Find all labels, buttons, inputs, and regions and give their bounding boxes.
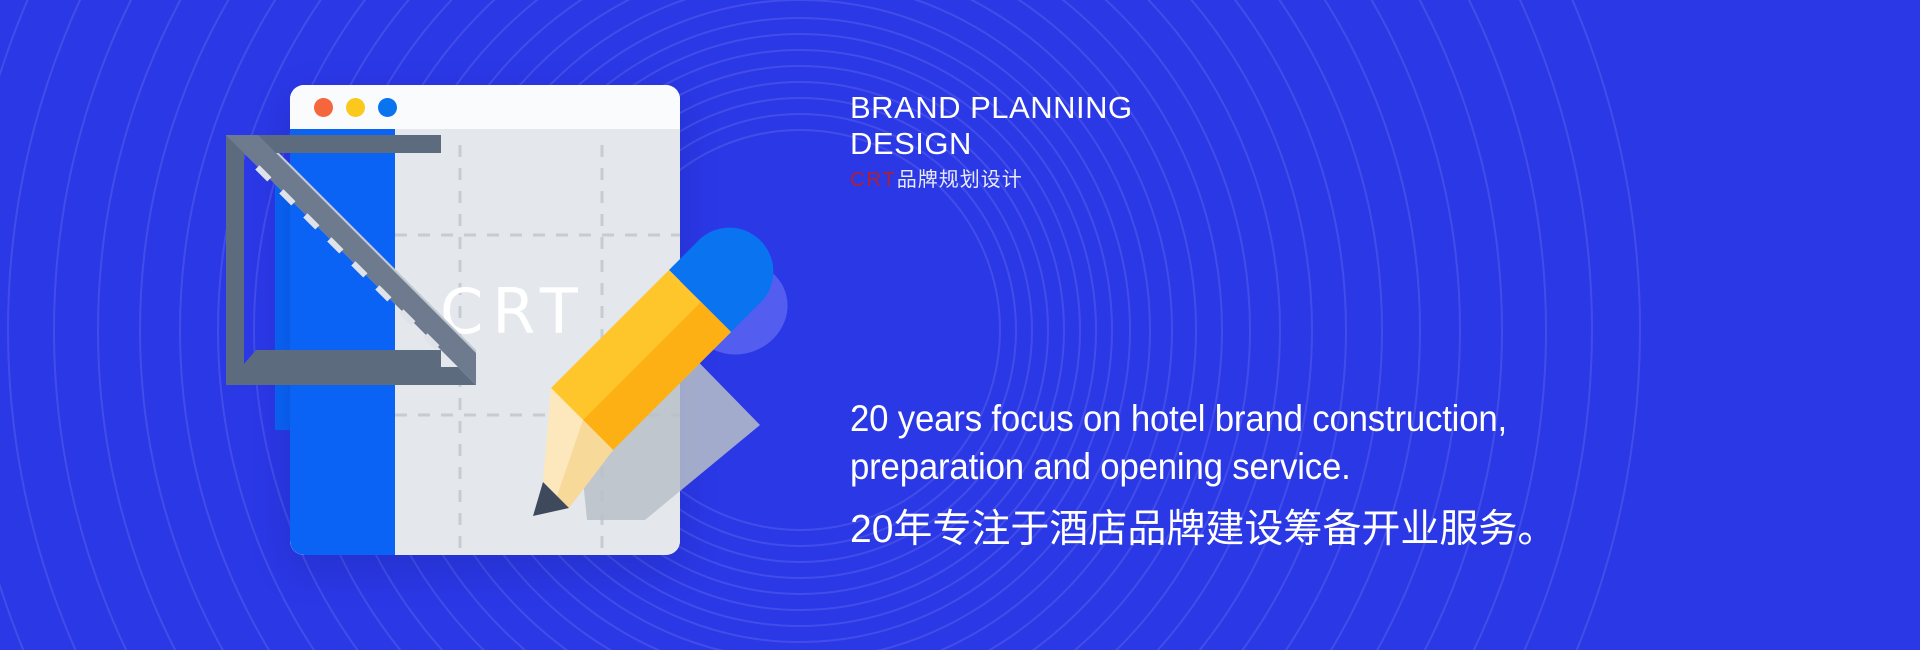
tagline-en-line-2: preparation and opening service.	[850, 443, 1696, 491]
copy-block: BRAND PLANNING DESIGN CRT品牌规划设计 20 years…	[850, 0, 1850, 650]
pencil-icon	[525, 220, 795, 540]
minimize-dot-icon[interactable]	[346, 98, 365, 117]
heading-subtitle-cn-text: 品牌规划设计	[897, 169, 1023, 191]
heading-line-1: BRAND PLANNING	[850, 90, 1470, 126]
brand-banner: CRT	[0, 0, 1920, 650]
brand-design-illustration: CRT	[230, 75, 850, 565]
crt-brand-prefix: CRT	[850, 169, 897, 191]
heading-group: BRAND PLANNING DESIGN CRT品牌规划设计	[850, 90, 1470, 193]
window-titlebar	[290, 85, 680, 129]
heading-line-2: DESIGN	[850, 126, 1470, 162]
maximize-dot-icon[interactable]	[378, 98, 397, 117]
heading-subtitle-cn: CRT品牌规划设计	[850, 167, 1470, 193]
tagline-en-line-1: 20 years focus on hotel brand constructi…	[850, 395, 1696, 443]
triangle-ruler-icon	[226, 135, 476, 385]
tagline-cn: 20年专注于酒店品牌建设筹备开业服务。	[850, 505, 1750, 555]
close-dot-icon[interactable]	[314, 98, 333, 117]
tagline-group: 20 years focus on hotel brand constructi…	[850, 395, 1750, 555]
